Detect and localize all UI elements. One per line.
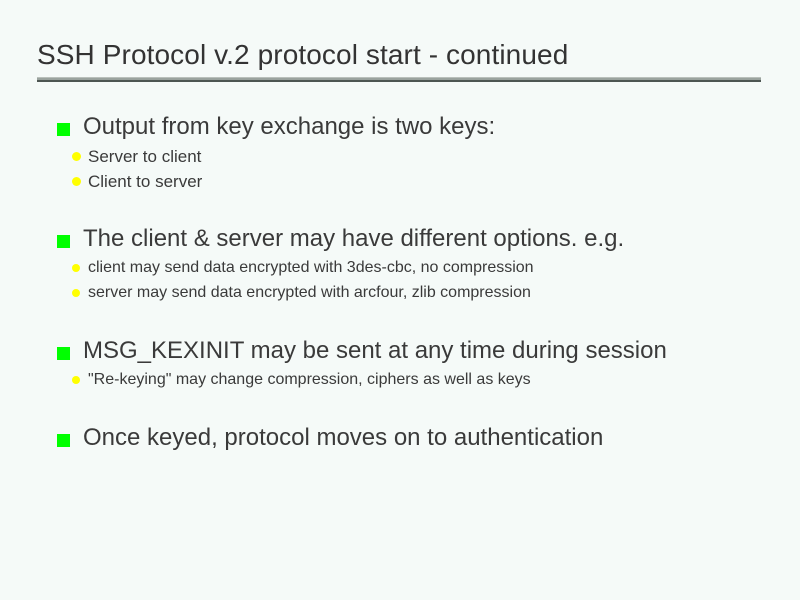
green-square-bullet-icon	[57, 235, 70, 248]
yellow-dot-bullet-icon	[72, 376, 80, 384]
bullet-level1-label: Once keyed, protocol moves on to authent…	[83, 424, 603, 451]
bullet-level2-label: server may send data encrypted with arcf…	[88, 284, 531, 301]
bullet-level2-label: client may send data encrypted with 3des…	[88, 259, 534, 276]
bullet-level2-label: Server to client	[88, 147, 201, 166]
yellow-dot-bullet-icon	[72, 152, 81, 161]
bullet-level2: "Re-keying" may change compression, ciph…	[0, 368, 800, 393]
green-square-bullet-icon	[57, 123, 70, 136]
bullet-level1: Output from key exchange is two keys:	[0, 112, 800, 142]
bullet-group: Once keyed, protocol moves on to authent…	[0, 423, 800, 453]
yellow-dot-bullet-icon	[72, 289, 80, 297]
bullet-level1: MSG_KEXINIT may be sent at any time duri…	[0, 336, 800, 366]
bullet-group: Output from key exchange is two keys: Se…	[0, 112, 800, 194]
green-square-bullet-icon	[57, 434, 70, 447]
bullet-level1: The client & server may have different o…	[0, 224, 800, 254]
bullet-level1-label: Output from key exchange is two keys:	[83, 113, 495, 140]
bullet-level2: server may send data encrypted with arcf…	[0, 281, 800, 306]
bullet-level2-label: "Re-keying" may change compression, ciph…	[88, 371, 531, 388]
title-block: SSH Protocol v.2 protocol start - contin…	[37, 38, 761, 72]
bullet-group: MSG_KEXINIT may be sent at any time duri…	[0, 336, 800, 393]
green-square-bullet-icon	[57, 347, 70, 360]
bullet-level1-label: The client & server may have different o…	[83, 225, 624, 252]
bullet-level2-label: Client to server	[88, 172, 202, 191]
bullet-level1: Once keyed, protocol moves on to authent…	[0, 423, 800, 453]
bullet-level2: client may send data encrypted with 3des…	[0, 256, 800, 281]
slide: SSH Protocol v.2 protocol start - contin…	[0, 0, 800, 600]
bullet-level2: Client to server	[0, 169, 800, 194]
page-title: SSH Protocol v.2 protocol start - contin…	[37, 38, 761, 72]
bullet-level2: Server to client	[0, 144, 800, 169]
yellow-dot-bullet-icon	[72, 264, 80, 272]
bullet-group: The client & server may have different o…	[0, 224, 800, 306]
title-divider	[37, 77, 761, 82]
bullet-level1-label: MSG_KEXINIT may be sent at any time duri…	[83, 337, 667, 364]
slide-body: Output from key exchange is two keys: Se…	[0, 112, 800, 455]
yellow-dot-bullet-icon	[72, 177, 81, 186]
